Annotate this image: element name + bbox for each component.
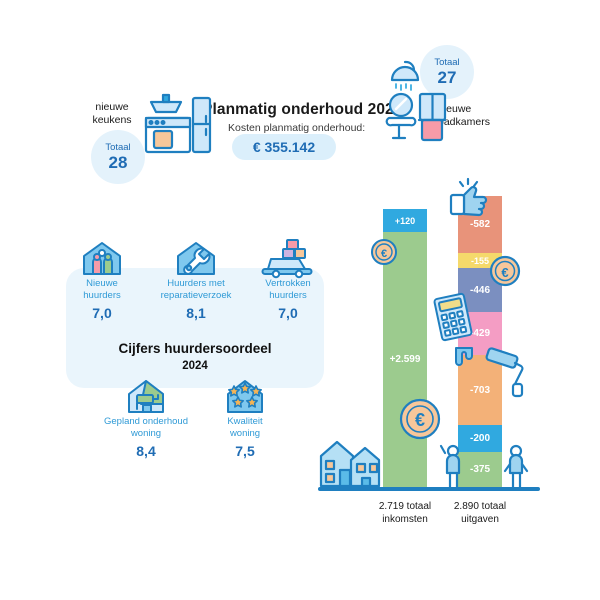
paint-roller-icon	[485, 346, 537, 398]
rating-item-1: Huurders met reparatieverzoek 8,1	[151, 278, 241, 321]
house-wrench-icon	[173, 240, 219, 276]
house-family-icon	[78, 240, 126, 276]
kitchens-label-line1: nieuwe	[84, 101, 140, 114]
people-icon	[500, 443, 534, 489]
kitchens-label: nieuwe keukens	[84, 101, 140, 127]
svg-text:€: €	[501, 265, 508, 280]
page-subtitle: Kosten planmatig onderhoud:	[228, 122, 365, 134]
cost-pill: € 355.142	[232, 134, 336, 160]
people-icon	[437, 443, 471, 489]
panel-title: Cijfers huurdersoordeel	[66, 341, 324, 356]
kitchen-icon	[135, 86, 213, 158]
euro-coin-icon: €	[399, 398, 441, 440]
kitchens-badge-label: Totaal	[105, 143, 130, 153]
rating-label-4-line1: Kwaliteit	[227, 416, 262, 427]
svg-text:€: €	[381, 248, 387, 260]
rating-label-3: Gepland onderhoud woning	[98, 416, 194, 441]
rating-label-1-line1: Huurders met	[167, 278, 225, 289]
bathrooms-label: nieuwe badkamers	[438, 103, 510, 129]
bathroom-icon	[382, 58, 448, 142]
moving-car-icon	[262, 238, 312, 276]
houses-icon	[318, 434, 390, 488]
rating-label-3-line2: woning	[131, 428, 161, 439]
rating-label-4-line2: woning	[230, 428, 260, 439]
kitchens-badge-value: 28	[109, 154, 128, 171]
kitchens-label-line2: keukens	[84, 114, 140, 127]
expense-total-line2: uitgaven	[430, 513, 530, 526]
rating-label-1-line2: reparatieverzoek	[161, 290, 232, 301]
rating-item-3: Gepland onderhoud woning 8,4	[98, 416, 194, 459]
bathrooms-label-line2: badkamers	[438, 116, 510, 129]
euro-coin-icon: €	[370, 238, 398, 266]
rating-label-0-line2: huurders	[83, 290, 121, 301]
rating-value-0: 7,0	[62, 305, 142, 321]
rating-label-2-line2: huurders	[269, 290, 307, 301]
rating-label-2-line1: Vertrokken	[265, 278, 310, 289]
rating-value-4: 7,5	[207, 443, 283, 459]
expense-total-label: 2.890 totaal uitgaven	[430, 500, 530, 526]
rating-value-1: 8,1	[151, 305, 241, 321]
income-segment-0: +120	[383, 209, 427, 232]
rating-value-3: 8,4	[98, 443, 194, 459]
rating-label-2: Vertrokken huurders	[248, 278, 328, 303]
rating-label-0-line1: Nieuwe	[86, 278, 118, 289]
rating-item-0: Nieuwe huurders 7,0	[62, 278, 142, 321]
euro-coin-icon: €	[489, 255, 521, 287]
rating-item-4: Kwaliteit woning 7,5	[207, 416, 283, 459]
thumbs-up-icon	[446, 176, 492, 216]
rating-label-3-line1: Gepland onderhoud	[104, 416, 188, 427]
calculator-icon	[432, 293, 474, 341]
bathrooms-label-line1: nieuwe	[438, 103, 510, 116]
house-stars-icon	[222, 378, 268, 414]
infographic-root: Planmatig onderhoud 2024 Kosten planmati…	[0, 0, 600, 600]
rating-label-1: Huurders met reparatieverzoek	[151, 278, 241, 303]
paint-drip-icon	[452, 346, 478, 372]
rating-value-2: 7,0	[248, 305, 328, 321]
chart-baseline	[318, 487, 540, 491]
page-title: Planmatig onderhoud 2024	[202, 101, 403, 119]
rating-label-0: Nieuwe huurders	[62, 278, 142, 303]
rating-label-4: Kwaliteit woning	[207, 416, 283, 441]
rating-item-2: Vertrokken huurders 7,0	[248, 278, 328, 321]
svg-text:€: €	[415, 410, 425, 430]
panel-year: 2024	[66, 360, 324, 372]
house-roller-icon	[123, 378, 169, 414]
expense-total-line1: 2.890 totaal	[430, 500, 530, 513]
